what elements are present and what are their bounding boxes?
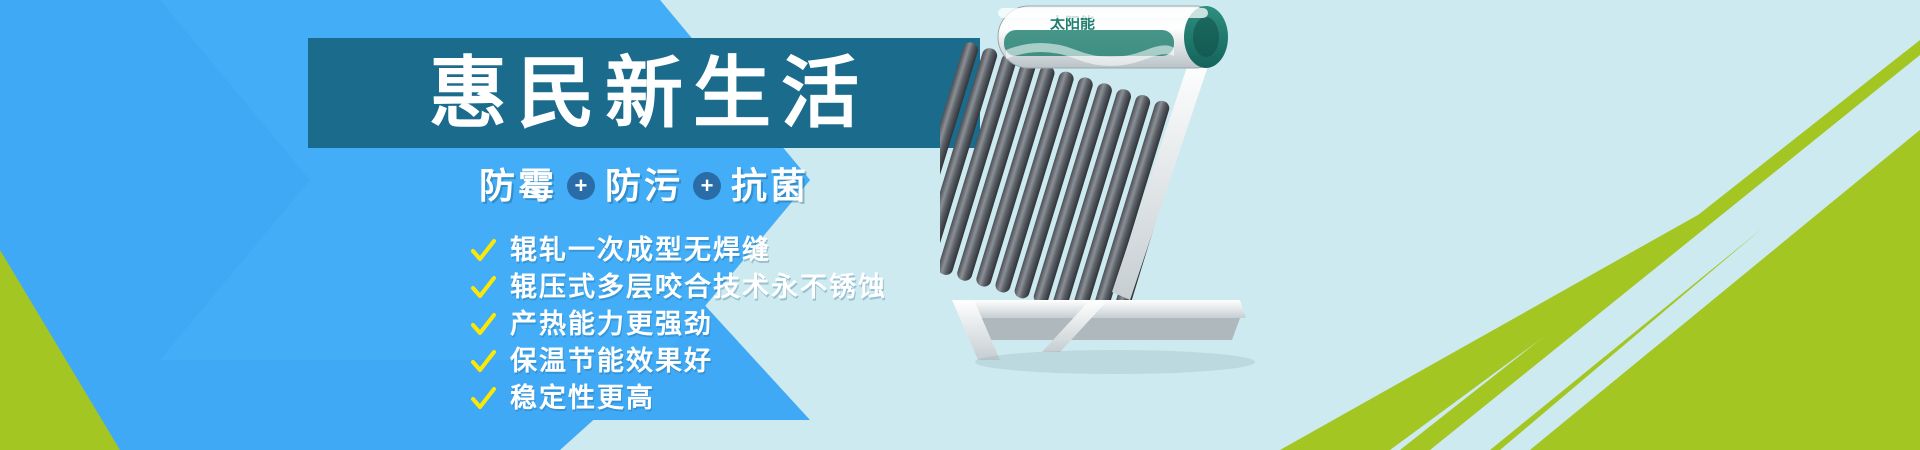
feature-label: 稳定性更高 (510, 385, 655, 412)
check-icon (470, 386, 496, 412)
feature-list: 辊轧一次成型无焊缝 辊压式多层咬合技术永不锈蚀 产热能力更强劲 保温节能效果好 (470, 237, 887, 412)
feature-label: 产热能力更强劲 (510, 311, 713, 338)
text-content: 惠民新生活 防霉 + 防污 + 抗菌 辊轧一次成型无焊缝 辊压式多层咬合技术永不… (0, 0, 1100, 450)
product-image: 太阳能 (940, 0, 1300, 380)
solar-water-heater-illustration: 太阳能 (940, 0, 1300, 380)
feature-label: 辊压式多层咬合技术永不锈蚀 (510, 274, 887, 301)
product-shadow (975, 350, 1255, 374)
feature-item: 辊轧一次成型无焊缝 (470, 237, 887, 264)
subtitle-word-2: 防污 (605, 168, 683, 204)
feature-item: 产热能力更强劲 (470, 311, 887, 338)
check-icon (470, 238, 496, 264)
title-box: 惠民新生活 (308, 38, 980, 148)
check-icon (470, 275, 496, 301)
feature-item: 保温节能效果好 (470, 348, 887, 375)
subtitle-word-1: 防霉 (479, 168, 557, 204)
page-title: 惠民新生活 (419, 54, 869, 132)
plus-icon-1: + (567, 172, 595, 200)
subtitle-word-3: 抗菌 (731, 168, 809, 204)
feature-item: 辊压式多层咬合技术永不锈蚀 (470, 274, 887, 301)
check-icon (470, 349, 496, 375)
promo-banner: 惠民新生活 防霉 + 防污 + 抗菌 辊轧一次成型无焊缝 辊压式多层咬合技术永不… (0, 0, 1920, 450)
check-icon (470, 312, 496, 338)
water-tank: 太阳能 (998, 6, 1228, 68)
feature-item: 稳定性更高 (470, 385, 887, 412)
subtitle-row: 防霉 + 防污 + 抗菌 (308, 168, 980, 204)
feature-label: 保温节能效果好 (510, 348, 713, 375)
plus-icon-2: + (693, 172, 721, 200)
feature-label: 辊轧一次成型无焊缝 (510, 237, 771, 264)
